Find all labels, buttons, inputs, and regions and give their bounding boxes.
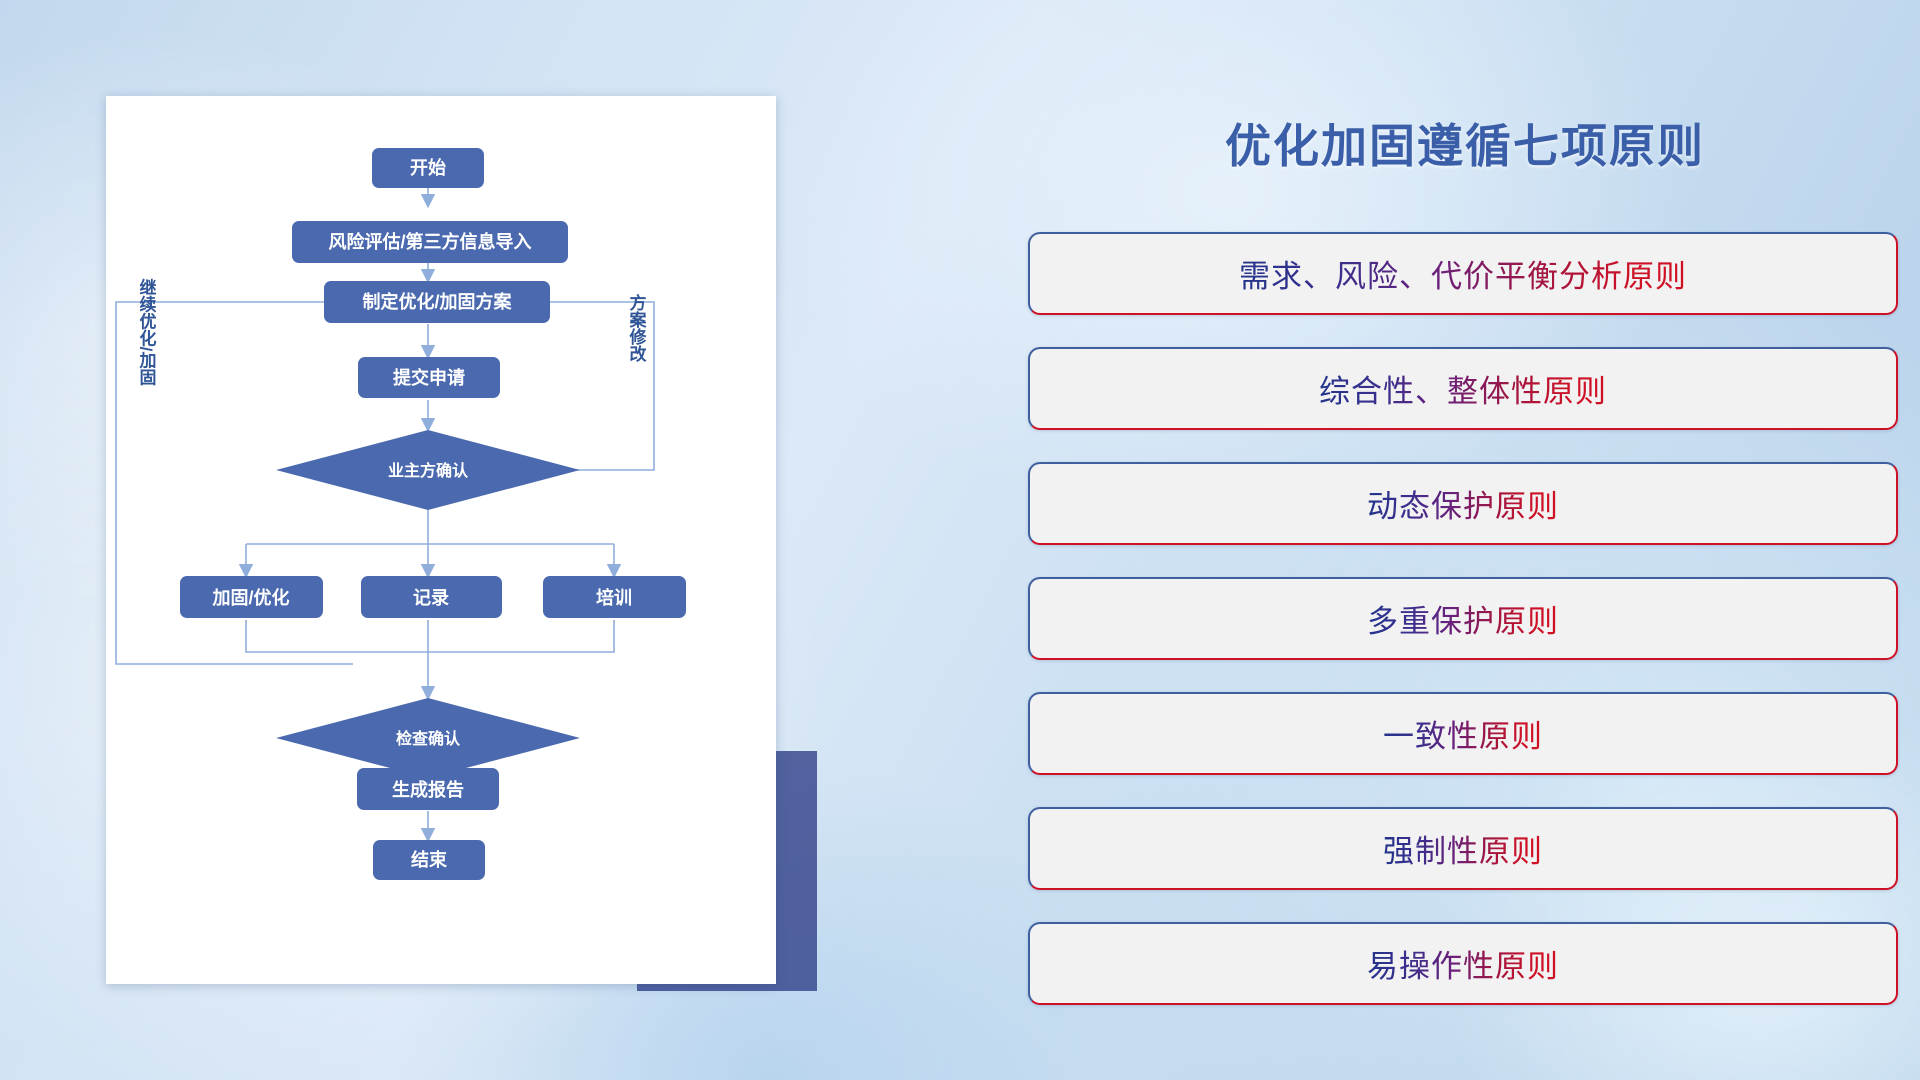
principle-label: 综合性、整体性原则	[1319, 366, 1607, 411]
node-end-label: 结束	[411, 849, 448, 870]
node-owner-confirm-label: 业主方确认	[388, 461, 469, 480]
node-submit-application-label: 提交申请	[393, 367, 465, 388]
node-make-plan-label: 制定优化/加固方案	[362, 291, 512, 312]
node-check-confirm-label: 检查确认	[396, 729, 461, 748]
node-end[interactable]: 结束	[373, 840, 485, 880]
node-training-label: 培训	[596, 587, 632, 608]
principles-list: 需求、风险、代价平衡分析原则 综合性、整体性原则 动态保护原则 多重保护原则 一…	[1028, 232, 1898, 1037]
node-risk-assessment[interactable]: 风险评估/第三方信息导入	[292, 221, 568, 263]
flowchart-diagram: 开始 风险评估/第三方信息导入 制定优化/加固方案 提交申请 业主方确认 加固/…	[106, 96, 776, 984]
principle-label: 一致性原则	[1383, 711, 1543, 756]
principle-item-3[interactable]: 动态保护原则	[1028, 462, 1898, 545]
principle-label: 动态保护原则	[1367, 481, 1559, 526]
principle-label: 需求、风险、代价平衡分析原则	[1239, 251, 1687, 296]
node-record-label: 记录	[413, 588, 449, 608]
node-submit-application[interactable]: 提交申请	[358, 357, 500, 398]
principle-label: 强制性原则	[1383, 826, 1543, 871]
principle-item-7[interactable]: 易操作性原则	[1028, 922, 1898, 1005]
node-make-plan[interactable]: 制定优化/加固方案	[324, 281, 550, 323]
principle-item-6[interactable]: 强制性原则	[1028, 807, 1898, 890]
node-reinforce-optimize-label: 加固/优化	[211, 587, 289, 608]
node-start-label: 开始	[410, 157, 446, 178]
principles-panel: 优化加固遵循七项原则 需求、风险、代价平衡分析原则 综合性、整体性原则 动态保护…	[1010, 0, 1920, 1080]
principle-label: 易操作性原则	[1367, 941, 1559, 986]
edge-label-plan-revise: 方案修改	[627, 293, 648, 363]
node-risk-assessment-label: 风险评估/第三方信息导入	[329, 231, 532, 252]
node-training[interactable]: 培训	[543, 576, 686, 618]
page-title: 优化加固遵循七项原则	[1010, 110, 1920, 176]
node-generate-report[interactable]: 生成报告	[357, 768, 499, 810]
principle-label: 多重保护原则	[1367, 596, 1559, 641]
node-start[interactable]: 开始	[372, 148, 484, 188]
edge-branch-merge	[246, 620, 614, 652]
node-owner-confirm[interactable]: 业主方确认	[276, 430, 580, 510]
node-reinforce-optimize[interactable]: 加固/优化	[180, 576, 323, 618]
node-record[interactable]: 记录	[361, 576, 502, 618]
principle-item-5[interactable]: 一致性原则	[1028, 692, 1898, 775]
node-generate-report-label: 生成报告	[392, 779, 464, 800]
node-check-confirm[interactable]: 检查确认	[276, 698, 580, 778]
principle-item-4[interactable]: 多重保护原则	[1028, 577, 1898, 660]
edge-label-continue-optimize: 继续优化/加固	[137, 278, 158, 387]
principle-item-1[interactable]: 需求、风险、代价平衡分析原则	[1028, 232, 1898, 315]
principle-item-2[interactable]: 综合性、整体性原则	[1028, 347, 1898, 430]
